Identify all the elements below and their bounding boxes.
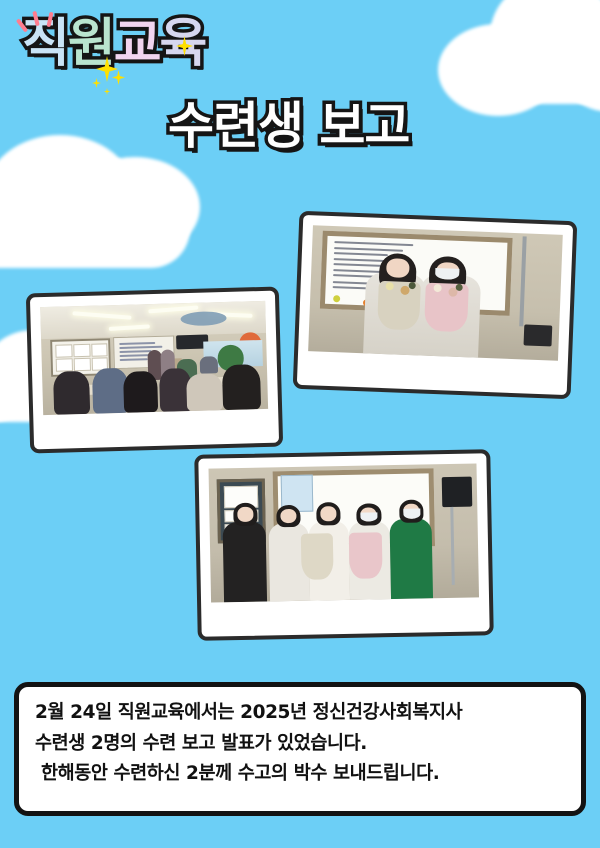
title-char-3: 교 — [114, 18, 160, 70]
sparkle-icon-4 — [104, 88, 110, 95]
cloud-top-right — [438, 0, 600, 117]
photo-group-five-image — [209, 463, 480, 602]
caption-line-2: 수련생 2명의 수련 보고 발표가 있었습니다. — [35, 732, 567, 756]
poster-title-sub: 수련생 보고 — [168, 86, 409, 158]
photo-seminar-image — [40, 301, 268, 415]
sparkle-dashes-icon — [16, 6, 72, 40]
caption-box: 2월 24일 직원교육에서는 2025년 정신건강사회복지사 수련생 2명의 수… — [14, 682, 586, 816]
caption-line-1: 2월 24일 직원교육에서는 2025년 정신건강사회복지사 — [35, 701, 567, 725]
caption-line-3: 한해동안 수련하신 2분께 수고의 박수 보내드립니다. — [35, 762, 567, 786]
photo-two-trainees-image — [308, 225, 563, 361]
sparkle-icon-3 — [92, 78, 101, 88]
photo-group-five — [194, 449, 494, 641]
title-char-4: 육 — [160, 18, 206, 70]
photo-seminar-room — [26, 286, 283, 453]
photo-two-trainees — [293, 211, 578, 400]
poster-canvas: 직 원 교 육 수련생 보고 — [0, 0, 600, 848]
